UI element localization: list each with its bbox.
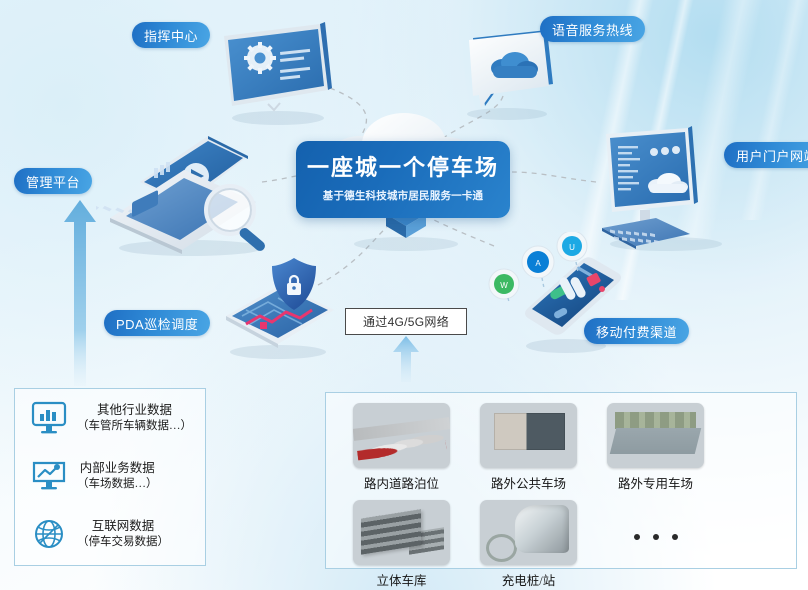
tablet-shield-lock-icon: [216, 254, 342, 364]
multi-level-garage-photo: [353, 500, 450, 565]
svg-text:W: W: [500, 281, 508, 290]
center-banner: 一座城一个停车场 基于德生科技城市居民服务一卡通: [296, 141, 510, 218]
data-source-row[interactable]: 其他行业数据 （车管所车辆数据…）: [15, 389, 205, 447]
scenario-caption: 充电桩/站: [502, 570, 555, 589]
node-label-pda-inspection[interactable]: PDA巡检调度: [104, 310, 210, 336]
ev-charging-photo: [480, 500, 577, 565]
scenario-row: 立体车库 充电桩/站: [344, 500, 784, 589]
svg-text:A: A: [535, 259, 541, 268]
infographic-canvas: W A U 一座城一个停车场 基于德生科技城市居民服务一卡通 指挥中心 语音服务…: [0, 0, 808, 590]
node-label-mobile-payment[interactable]: 移动付费渠道: [584, 318, 689, 344]
data-sources-panel: 其他行业数据 （车管所车辆数据…） 内部业务数据 （车场数据…）: [14, 388, 206, 566]
alipay-icon: A: [522, 246, 554, 278]
data-source-title: 互联网数据: [92, 518, 155, 535]
laptop-search-icon: [96, 132, 281, 260]
desktop-monitor-icon: [596, 126, 736, 254]
street-parking-photo: [353, 403, 450, 468]
scenario-item[interactable]: 路外公共车场: [471, 403, 586, 492]
data-source-title: 内部业务数据: [80, 460, 155, 477]
monitor-line-chart-icon: [27, 456, 71, 496]
node-label-voice-hotline[interactable]: 语音服务热线: [540, 16, 645, 42]
data-source-detail: （停车交易数据）: [77, 535, 169, 551]
payment-icons-group: W A U: [486, 232, 596, 302]
scenario-caption: 路内道路泊位: [364, 473, 439, 492]
node-label-user-portal[interactable]: 用户门户网站: [724, 142, 808, 168]
center-subtitle: 基于德生科技城市居民服务一卡通: [323, 188, 484, 203]
scenario-row: 路内道路泊位 路外公共车场 路外专用车场: [344, 403, 784, 492]
wechat-pay-icon: W: [489, 269, 519, 299]
scenario-caption: 路外公共车场: [491, 473, 566, 492]
scenario-item[interactable]: 充电桩/站: [471, 500, 586, 589]
scenario-item[interactable]: 立体车库: [344, 500, 459, 589]
scenario-item[interactable]: 路内道路泊位: [344, 403, 459, 492]
svg-text:U: U: [569, 243, 575, 252]
data-source-row[interactable]: 互联网数据 （停车交易数据）: [15, 505, 205, 563]
data-source-detail: （车管所车辆数据…）: [77, 419, 192, 435]
more-scenarios-ellipsis: [598, 504, 713, 569]
parking-scenarios-panel: 路内道路泊位 路外公共车场 路外专用车场 立体车库 充电桩: [325, 392, 797, 569]
public-parking-building-photo: [480, 403, 577, 468]
arrow-up-icon: [386, 336, 426, 384]
scenario-caption: 路外专用车场: [618, 473, 693, 492]
dedicated-parking-lot-photo: [607, 403, 704, 468]
scenario-caption: 立体车库: [376, 570, 426, 589]
globe-network-icon: [27, 514, 71, 554]
monitor-gear-icon: [212, 18, 342, 128]
network-label-box: 通过4G/5G网络: [345, 308, 467, 335]
node-label-management-platform[interactable]: 管理平台: [14, 168, 92, 194]
data-source-detail: （车场数据…）: [77, 477, 158, 493]
data-source-row[interactable]: 内部业务数据 （车场数据…）: [15, 447, 205, 505]
data-source-title: 其他行业数据: [97, 402, 172, 419]
monitor-bar-chart-icon: [27, 398, 71, 438]
background-streak: [740, 0, 808, 220]
center-title: 一座城一个停车场: [307, 156, 499, 180]
scenario-item[interactable]: 路外专用车场: [598, 403, 713, 492]
node-label-command-center[interactable]: 指挥中心: [132, 22, 210, 48]
unionpay-icon: U: [557, 232, 587, 261]
